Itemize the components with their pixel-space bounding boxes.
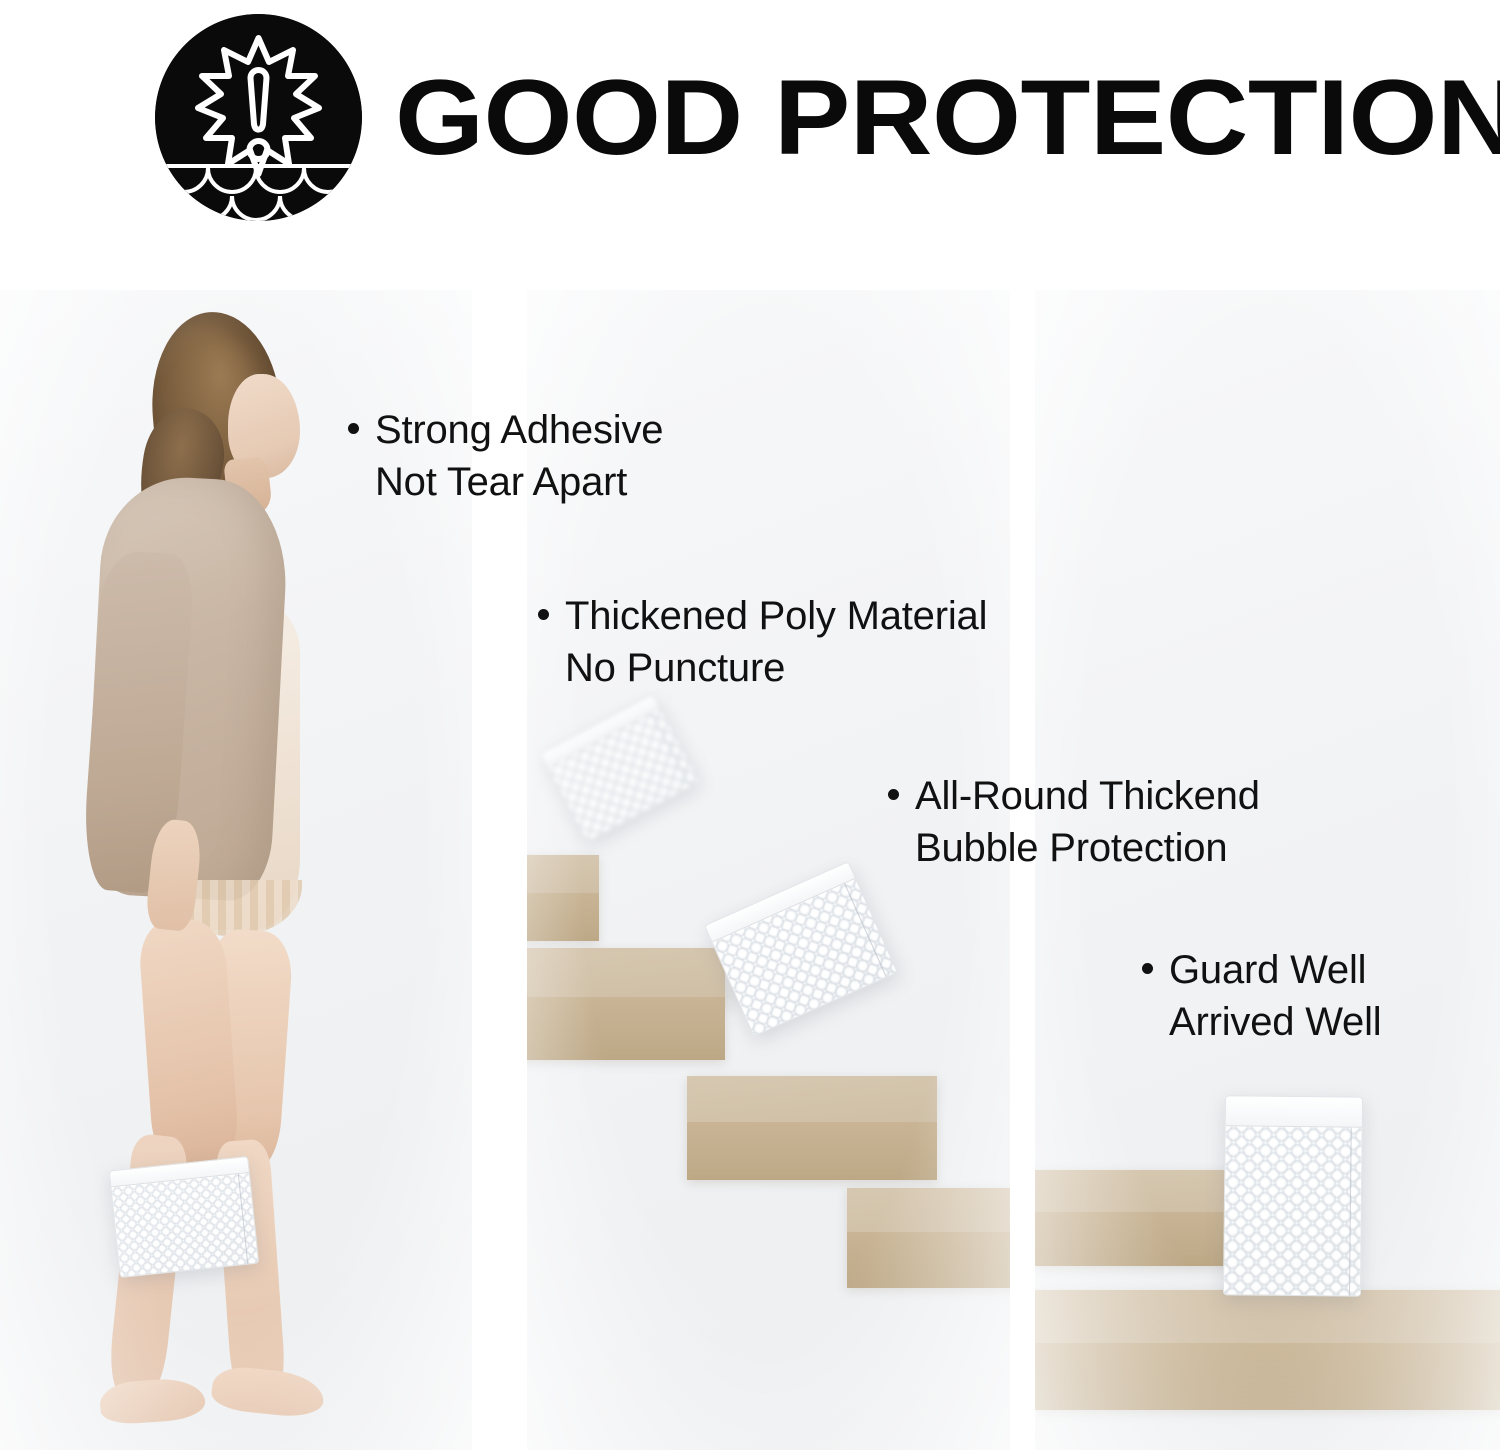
stair-step-3 xyxy=(687,1076,937,1180)
stair-tread xyxy=(527,855,599,893)
stair-tread xyxy=(847,1188,1010,1232)
header: GOOD PROTECTION xyxy=(0,0,1500,250)
stair-step-1 xyxy=(527,855,599,941)
mailer-flap xyxy=(1226,1096,1362,1127)
bubble-mailer-held xyxy=(109,1156,260,1278)
feature-bullet-strong-adhesive: Strong Adhesive Not Tear Apart xyxy=(348,352,663,508)
bullet-dot-icon xyxy=(1142,963,1153,974)
feature-bullet-thickened-poly-material: Thickened Poly Material No Puncture xyxy=(538,538,987,694)
bullet-dot-icon xyxy=(538,609,549,620)
feature-text: Thickened Poly Material No Puncture xyxy=(565,590,987,694)
feature-text: All-Round Thickend Bubble Protection xyxy=(915,770,1260,874)
right-foot xyxy=(210,1364,326,1419)
stair-riser xyxy=(1035,1212,1235,1266)
stair-tread xyxy=(527,948,725,997)
bubble-mailer-standing xyxy=(1223,1095,1363,1296)
feature-bullet-guard-well-arrived-well: Guard Well Arrived Well xyxy=(1142,892,1381,1048)
stair-step-4 xyxy=(847,1188,1010,1288)
stair-riser xyxy=(847,1232,1010,1288)
stair-riser xyxy=(527,893,599,941)
stair-tread xyxy=(1035,1290,1500,1343)
stair-tread xyxy=(1035,1170,1235,1212)
feature-text: Strong Adhesive Not Tear Apart xyxy=(375,404,663,508)
stair-riser xyxy=(527,997,725,1060)
burst-exclamation-bubble-wrap-badge-icon xyxy=(155,14,362,221)
page-title: GOOD PROTECTION xyxy=(395,52,1500,182)
feature-bullet-all-round-bubble-protection: All-Round Thickend Bubble Protection xyxy=(888,718,1260,874)
mailer-bubble-texture xyxy=(111,1173,258,1277)
panel-strip xyxy=(0,290,1500,1450)
product-feature-image: GOOD PROTECTION xyxy=(0,0,1500,1450)
stair-riser xyxy=(687,1122,937,1180)
bullet-dot-icon xyxy=(348,423,359,434)
stair-riser xyxy=(1035,1343,1500,1410)
feature-text: Guard Well Arrived Well xyxy=(1169,944,1381,1048)
stair-step-2 xyxy=(527,948,725,1060)
stair-step-upper xyxy=(1035,1170,1235,1266)
stair-tread xyxy=(687,1076,937,1122)
stair-step-lower xyxy=(1035,1290,1500,1410)
bullet-dot-icon xyxy=(888,789,899,800)
mailer-bubble-texture xyxy=(1224,1126,1362,1296)
